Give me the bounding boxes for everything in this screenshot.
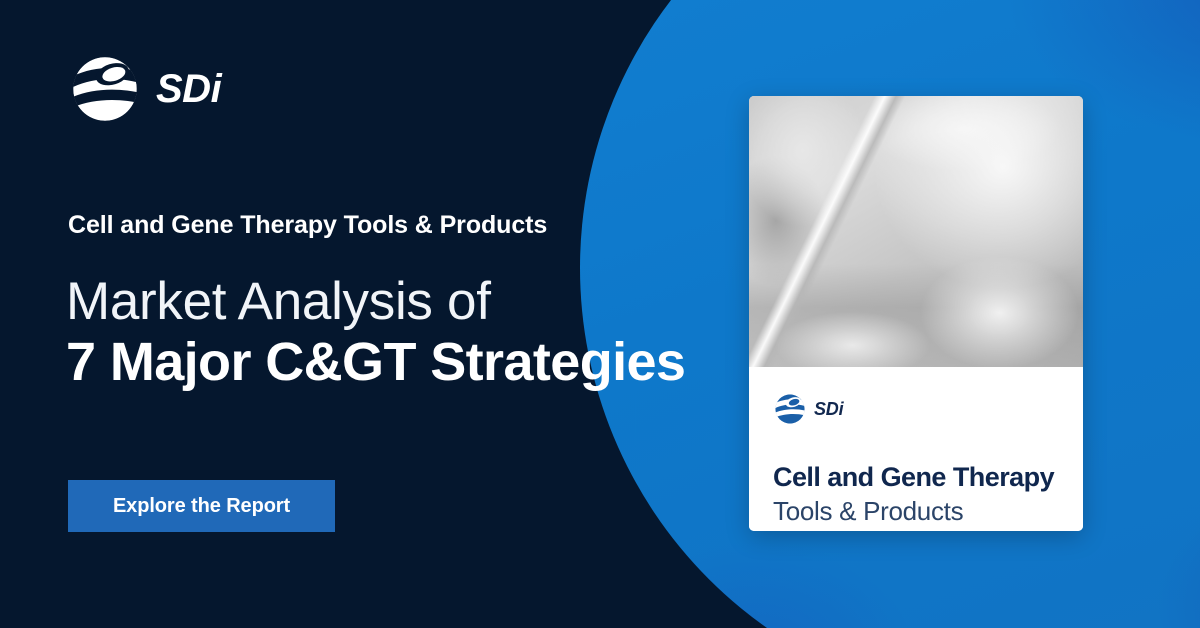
sdi-logo-lockup[interactable]: SDi: [68, 52, 221, 126]
sdi-globe-logo-icon: [68, 52, 142, 126]
report-cover-body: SDi Cell and Gene Therapy Tools & Produc…: [749, 367, 1083, 531]
card-sdi-wordmark: SDi: [814, 400, 843, 418]
explore-the-report-button[interactable]: Explore the Report: [68, 480, 335, 532]
report-card-title: Cell and Gene Therapy: [773, 462, 1059, 494]
sdi-wordmark: SDi: [156, 69, 221, 109]
card-sdi-logo-lockup: SDi: [773, 392, 1059, 426]
report-cover-photo-pixels: [749, 96, 1083, 367]
marketing-banner: SDi Cell and Gene Therapy Tools & Produc…: [0, 0, 1200, 628]
eyebrow-text: Cell and Gene Therapy Tools & Products: [68, 211, 547, 240]
headline-line-2: 7 Major C&GT Strategies: [66, 334, 685, 391]
report-cover-photo: [749, 96, 1083, 367]
report-card-subtitle: Tools & Products: [773, 496, 1059, 527]
headline-line-1: Market Analysis of: [66, 274, 491, 330]
report-cover-card[interactable]: SDi Cell and Gene Therapy Tools & Produc…: [749, 96, 1083, 531]
sdi-globe-logo-icon: [773, 392, 807, 426]
